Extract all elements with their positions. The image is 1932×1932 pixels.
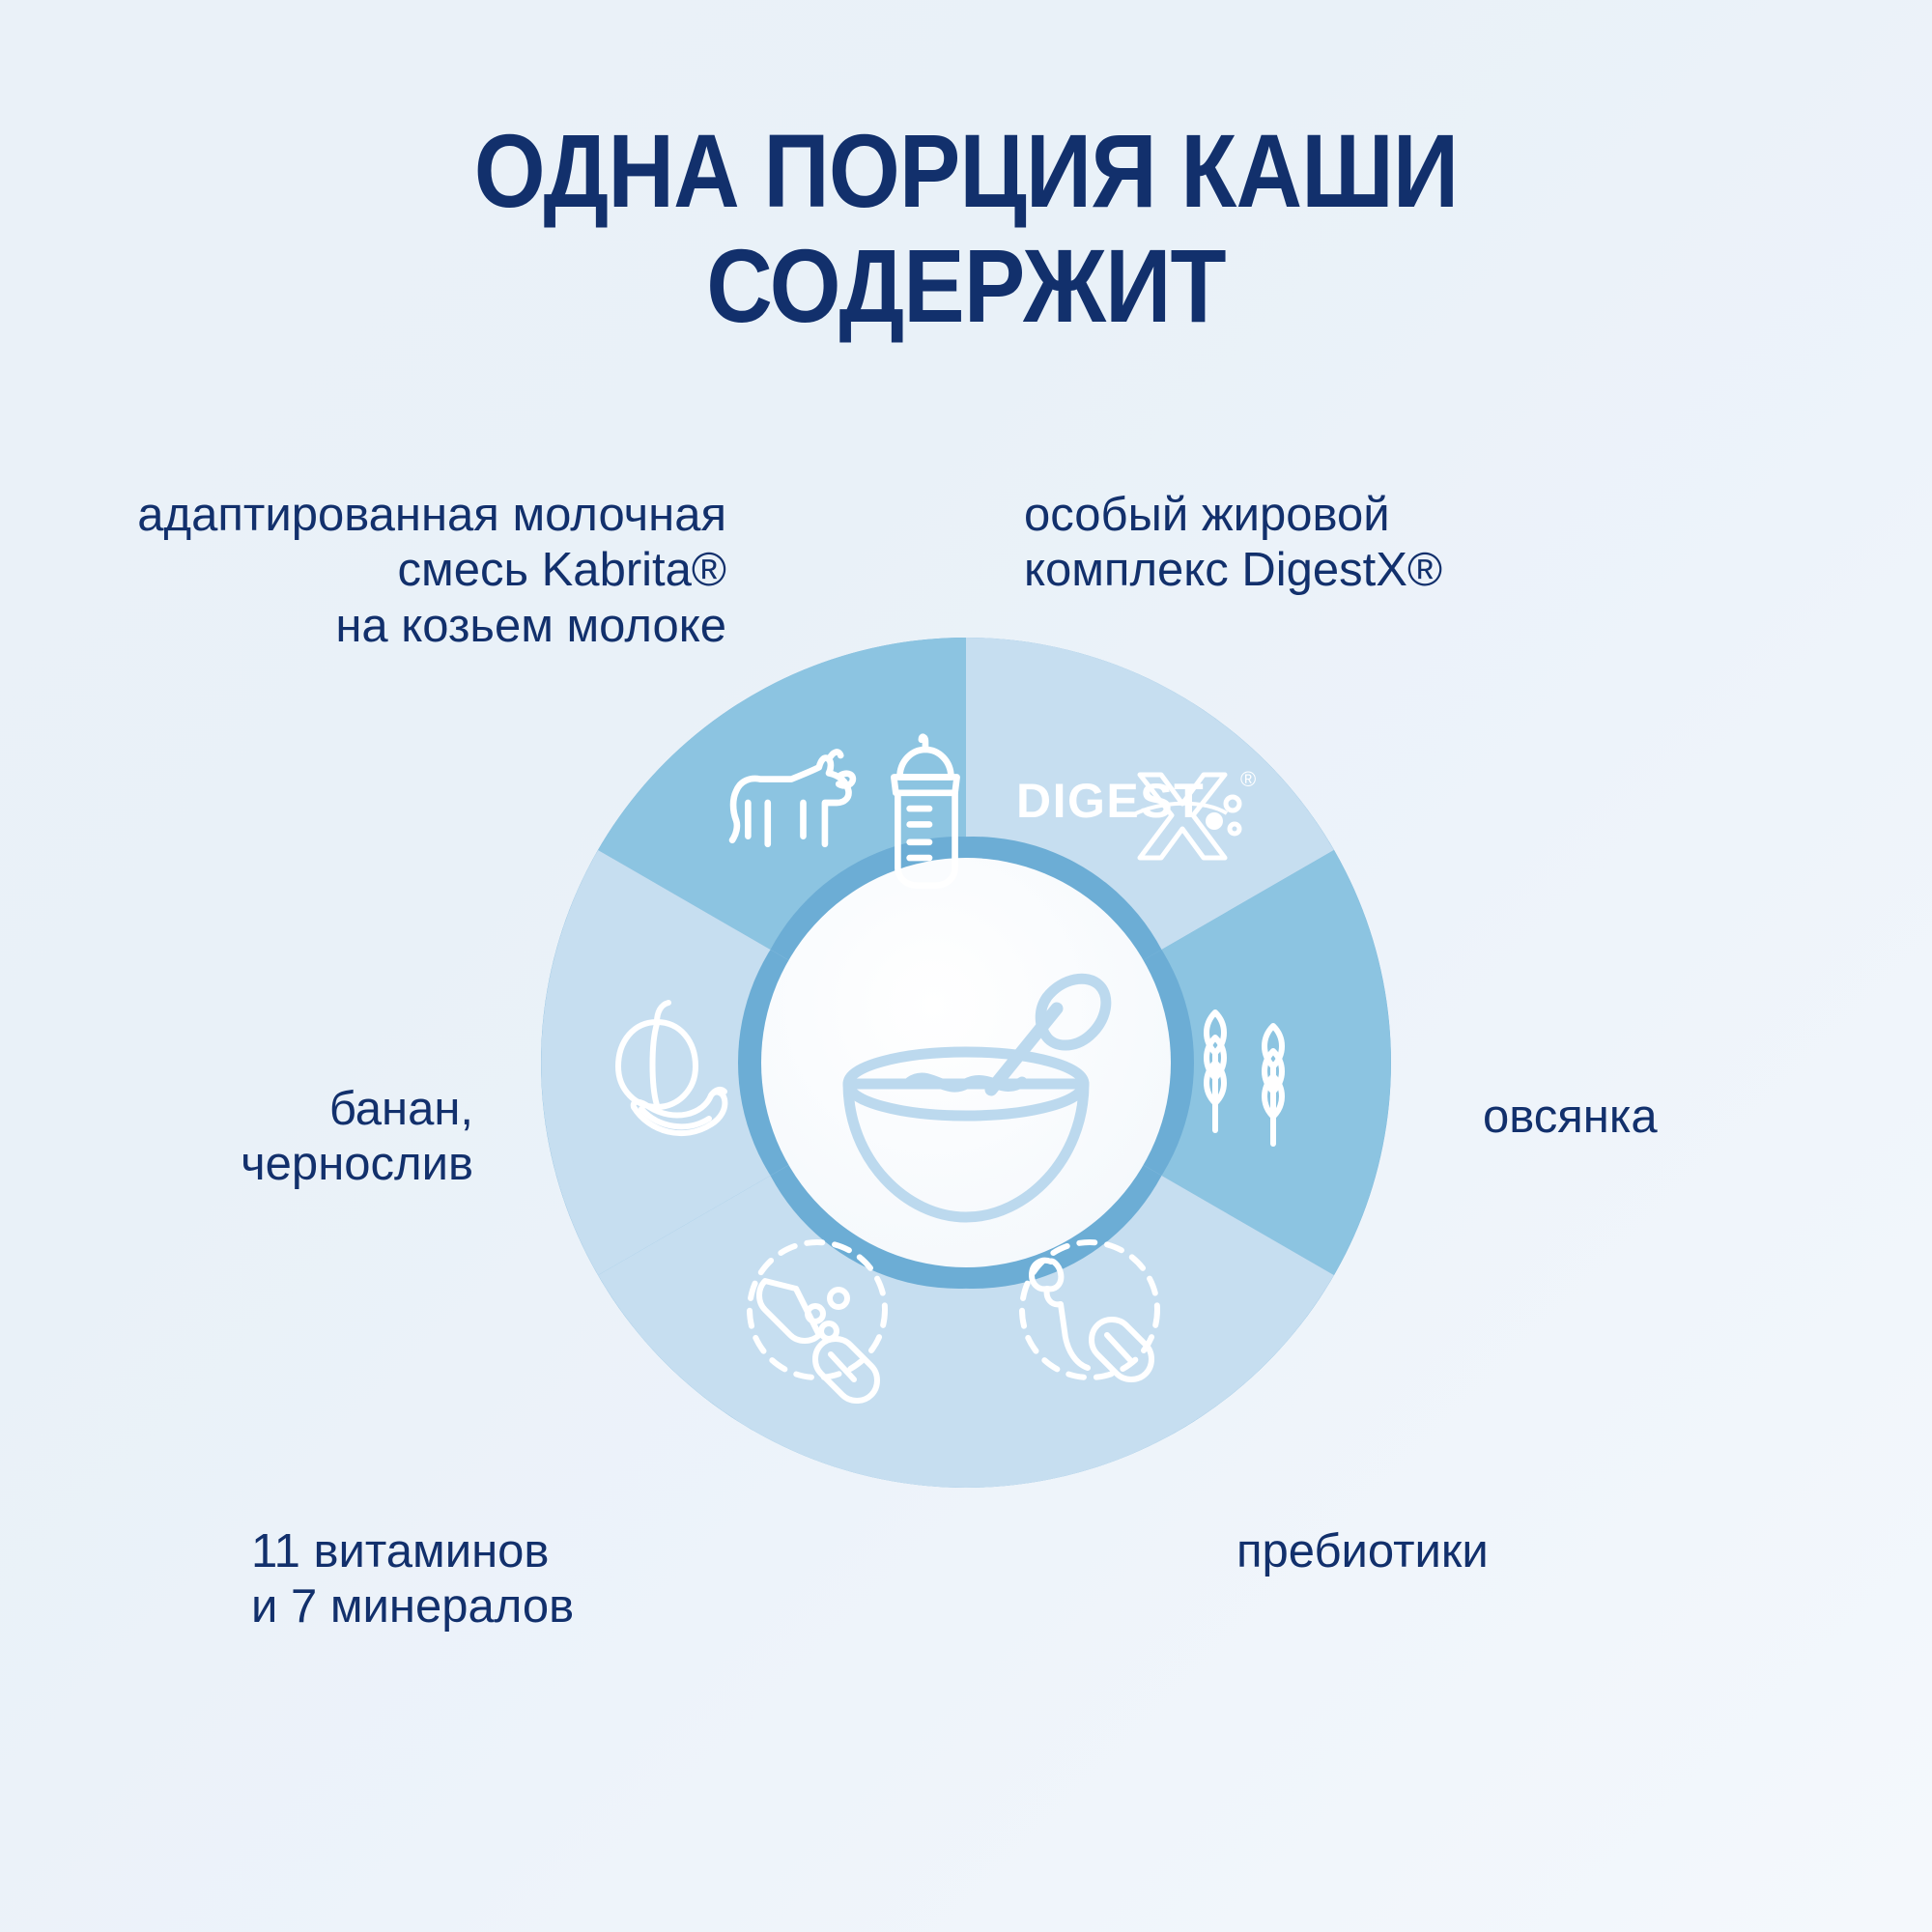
label-milk-formula: адаптированная молочная смесь Kabrita® н… [50, 488, 726, 654]
label-vitamins-minerals: 11 витаминов и 7 минералов [251, 1524, 831, 1635]
ingredient-wheel: DIGEST ® [541, 638, 1391, 1488]
infographic-canvas: ОДНА ПОРЦИЯ КАШИ СОДЕРЖИТ [0, 0, 1932, 1932]
label-fruits: банан, чернослив [87, 1082, 473, 1193]
center-disc [761, 858, 1171, 1267]
label-oatmeal: овсянка [1483, 1090, 1889, 1145]
label-prebiotics: пребиотики [1236, 1524, 1700, 1579]
digestx-logo-wordmark: DIGEST [1016, 774, 1205, 828]
page-title: ОДНА ПОРЦИЯ КАШИ СОДЕРЖИТ [116, 114, 1816, 344]
digestx-registered-icon: ® [1240, 767, 1256, 791]
label-fat-complex: особый жировой комплекс DigestX® [1024, 488, 1642, 599]
